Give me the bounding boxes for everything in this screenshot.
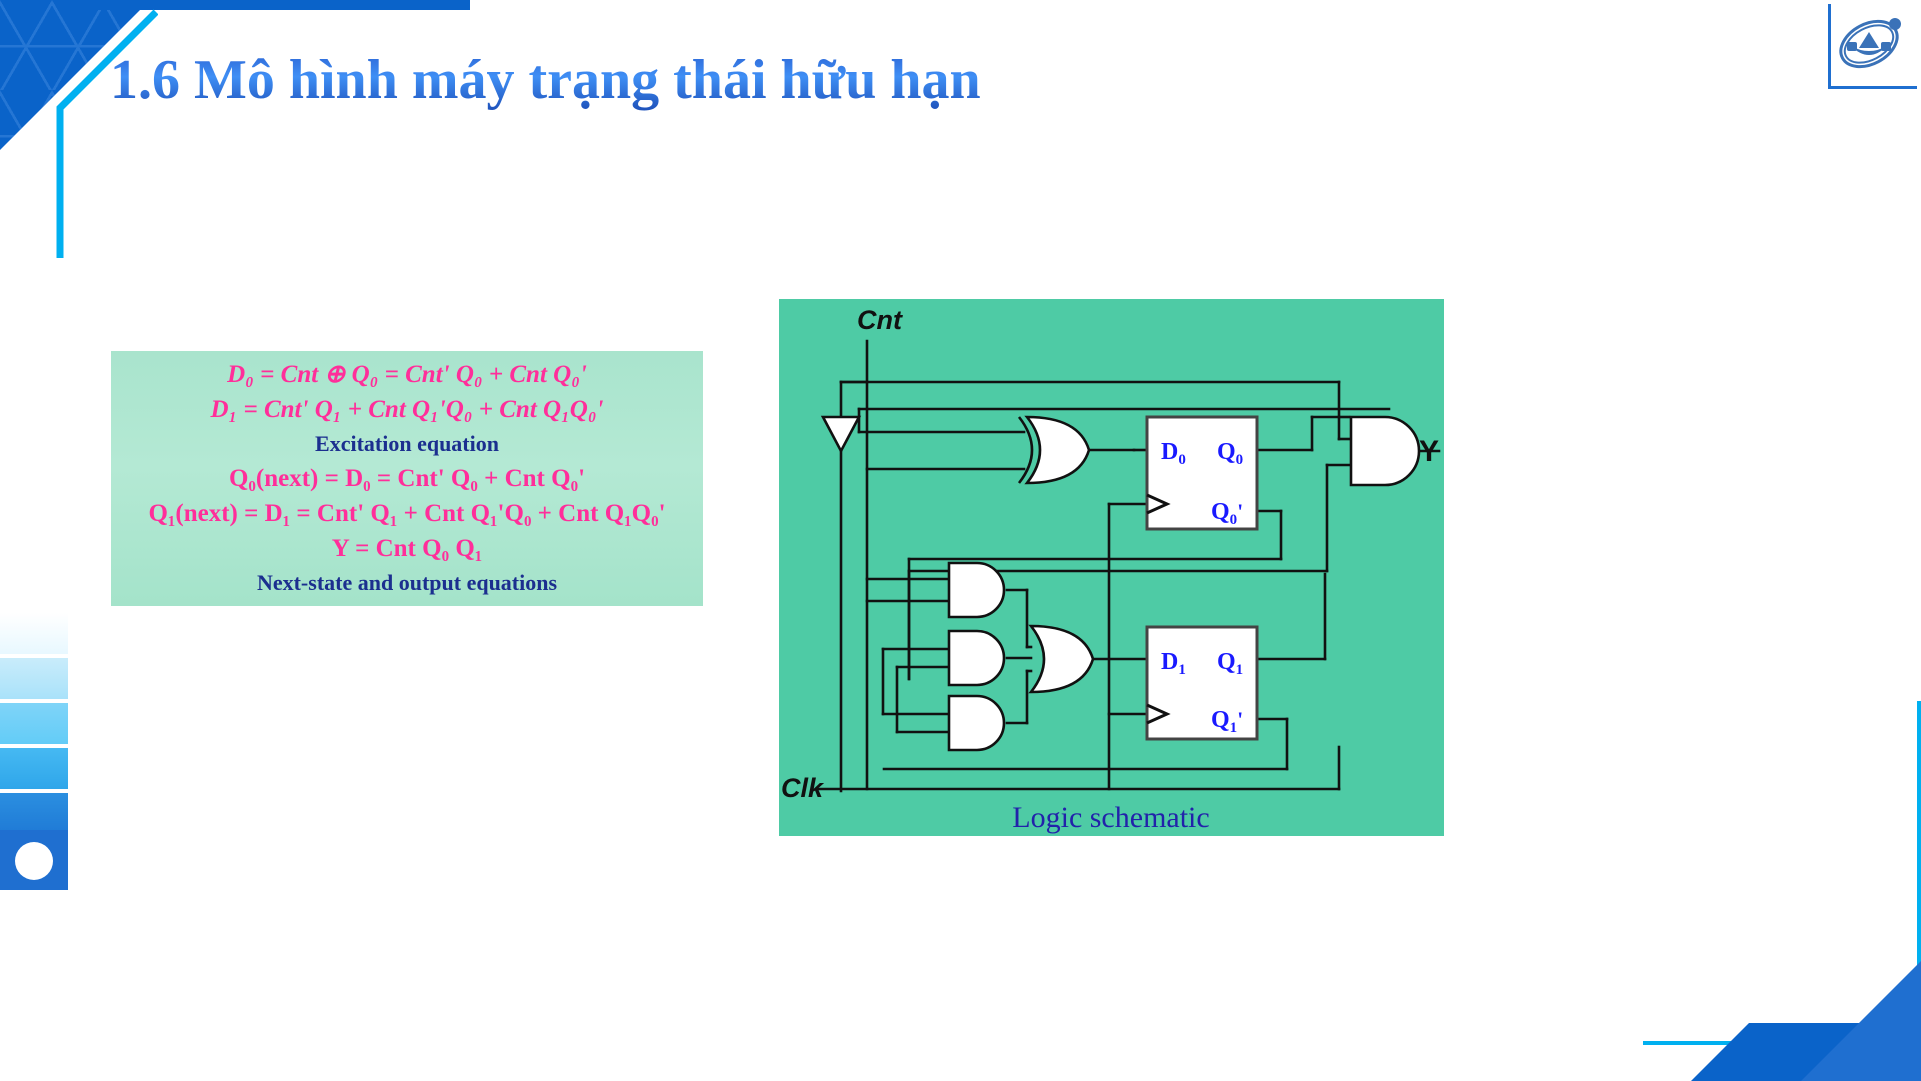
label-clk: Clk: [781, 773, 825, 803]
label-cnt: Cnt: [857, 305, 903, 335]
logic-schematic-svg: Cnt Clk Y D0 Q0 Q0' D1 Q1 Q1' Logic sche…: [779, 299, 1444, 836]
orbit-atom-logo: [1828, 4, 1917, 89]
and-gate-1-icon: [949, 563, 1004, 617]
bottom-left-badge: [0, 830, 68, 890]
and-gate-2-icon: [949, 631, 1004, 685]
label-ff0-qbar: Q0': [1211, 499, 1243, 528]
cyan-outline-decoration: [28, 8, 158, 258]
equation-q0-next: Q₀(next) = D₀ = Cnt' Q₀ + Cnt Q₀': [111, 461, 703, 496]
corner-wedge-bottom-right-2: [1801, 961, 1921, 1081]
equation-panel: D₀ = Cnt ⊕ Q₀ = Cnt' Q₀ + Cnt Q₀' D₁ = C…: [111, 351, 703, 606]
caption-next-state-output-equations: Next-state and output equations: [111, 566, 703, 600]
caption-excitation-equation: Excitation equation: [111, 427, 703, 461]
label-y: Y: [1419, 435, 1439, 468]
equation-output-y: Y = Cnt Q₀ Q₁: [111, 531, 703, 566]
stack-block-4: [0, 748, 68, 789]
equation-d1: D₁ = Cnt' Q₁ + Cnt Q₁'Q₀ + Cnt Q₁Q₀': [111, 392, 703, 427]
page-title: 1.6 Mô hình máy trạng thái hữu hạn: [110, 48, 981, 112]
left-color-stack: [0, 613, 68, 838]
equation-q1-next: Q₁(next) = D₁ = Cnt' Q₁ + Cnt Q₁'Q₀ + Cn…: [111, 496, 703, 531]
label-ff1-qbar: Q1': [1211, 707, 1243, 736]
stack-block-5: [0, 793, 68, 834]
inverter-icon: [823, 417, 859, 451]
logo-icon: [1831, 4, 1911, 82]
equation-d0: D₀ = Cnt ⊕ Q₀ = Cnt' Q₀ + Cnt Q₀': [111, 357, 703, 392]
stack-block-2: [0, 658, 68, 699]
stack-block-3: [0, 703, 68, 744]
xor-gate-icon: [1019, 417, 1089, 483]
logic-schematic-panel: Cnt Clk Y D0 Q0 Q0' D1 Q1 Q1' Logic sche…: [779, 299, 1444, 836]
or-gate-icon: [1031, 626, 1093, 692]
circle-icon: [15, 842, 53, 880]
and-gate-3-icon: [949, 696, 1004, 750]
and-gate-output-y-icon: [1351, 417, 1419, 485]
stack-block-1: [0, 613, 68, 654]
caption-logic-schematic: Logic schematic: [1012, 801, 1209, 834]
